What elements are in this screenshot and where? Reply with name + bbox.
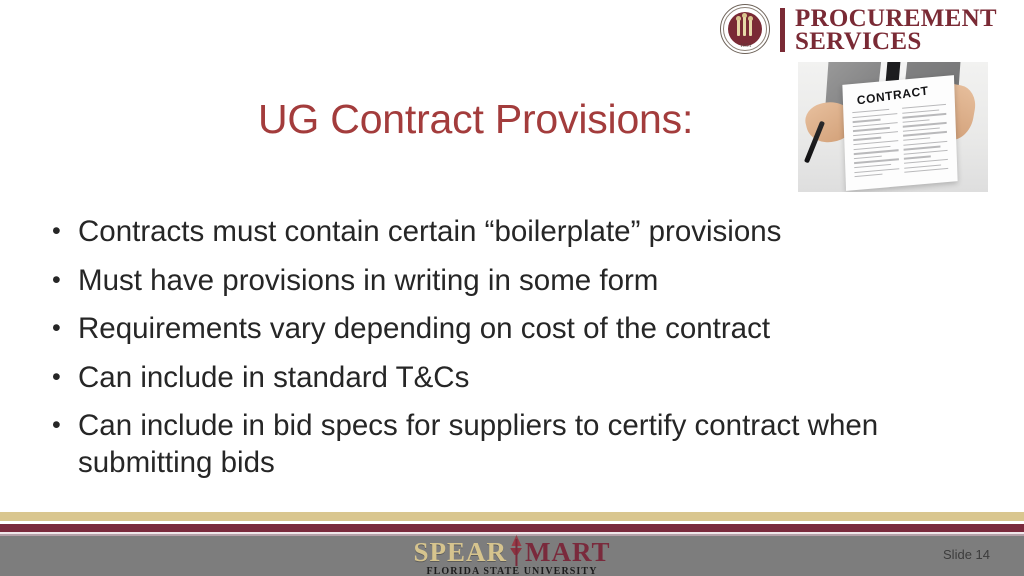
bullet-icon: • [52, 408, 78, 443]
photo-contract-document: CONTRACT [842, 75, 957, 191]
bullet-icon: • [52, 214, 78, 249]
procurement-services-brand: 1851 PROCUREMENT SERVICES [718, 2, 997, 58]
bullet-icon: • [52, 360, 78, 395]
list-item: • Can include in bid specs for suppliers… [52, 408, 952, 481]
list-item-label: Must have provisions in writing in some … [78, 263, 952, 300]
bullet-icon: • [52, 263, 78, 298]
spearmart-logo: SPEAR MART FLORIDA STATE UNIVERSITY [413, 537, 610, 576]
seal-year: 1851 [718, 44, 774, 49]
photo-document-text-lines [852, 104, 948, 181]
bullet-list: • Contracts must contain certain “boiler… [52, 214, 952, 493]
list-item-label: Can include in standard T&Cs [78, 360, 952, 397]
list-item: • Requirements vary depending on cost of… [52, 311, 952, 348]
list-item-label: Contracts must contain certain “boilerpl… [78, 214, 952, 251]
spear-icon [508, 537, 524, 567]
slide-number: Slide 14 [943, 547, 990, 562]
footer-band-gold [0, 512, 1024, 521]
contract-photo: CONTRACT [798, 62, 988, 192]
brand-line-1: PROCUREMENT [795, 7, 997, 31]
slide-canvas: 1851 PROCUREMENT SERVICES CONTRACT [0, 0, 1024, 576]
brand-line-2: SERVICES [795, 30, 997, 54]
spearmart-word-mart: MART [525, 539, 611, 566]
fsu-seal-icon: 1851 [718, 4, 774, 56]
bullet-icon: • [52, 311, 78, 346]
list-item: • Can include in standard T&Cs [52, 360, 952, 397]
brand-divider [780, 8, 785, 52]
spearmart-word-spear: SPEAR [413, 539, 507, 566]
footer-bar: SPEAR MART FLORIDA STATE UNIVERSITY Slid… [0, 536, 1024, 576]
slide-footer: SPEAR MART FLORIDA STATE UNIVERSITY Slid… [0, 512, 1024, 576]
page-title: UG Contract Provisions: [258, 96, 798, 143]
spearmart-subtitle: FLORIDA STATE UNIVERSITY [426, 566, 597, 576]
list-item: • Must have provisions in writing in som… [52, 263, 952, 300]
footer-band-maroon [0, 524, 1024, 532]
list-item-label: Can include in bid specs for suppliers t… [78, 408, 952, 481]
list-item-label: Requirements vary depending on cost of t… [78, 311, 952, 348]
list-item: • Contracts must contain certain “boiler… [52, 214, 952, 251]
photo-document-label: CONTRACT [856, 83, 929, 107]
brand-wordmark: PROCUREMENT SERVICES [795, 7, 997, 54]
